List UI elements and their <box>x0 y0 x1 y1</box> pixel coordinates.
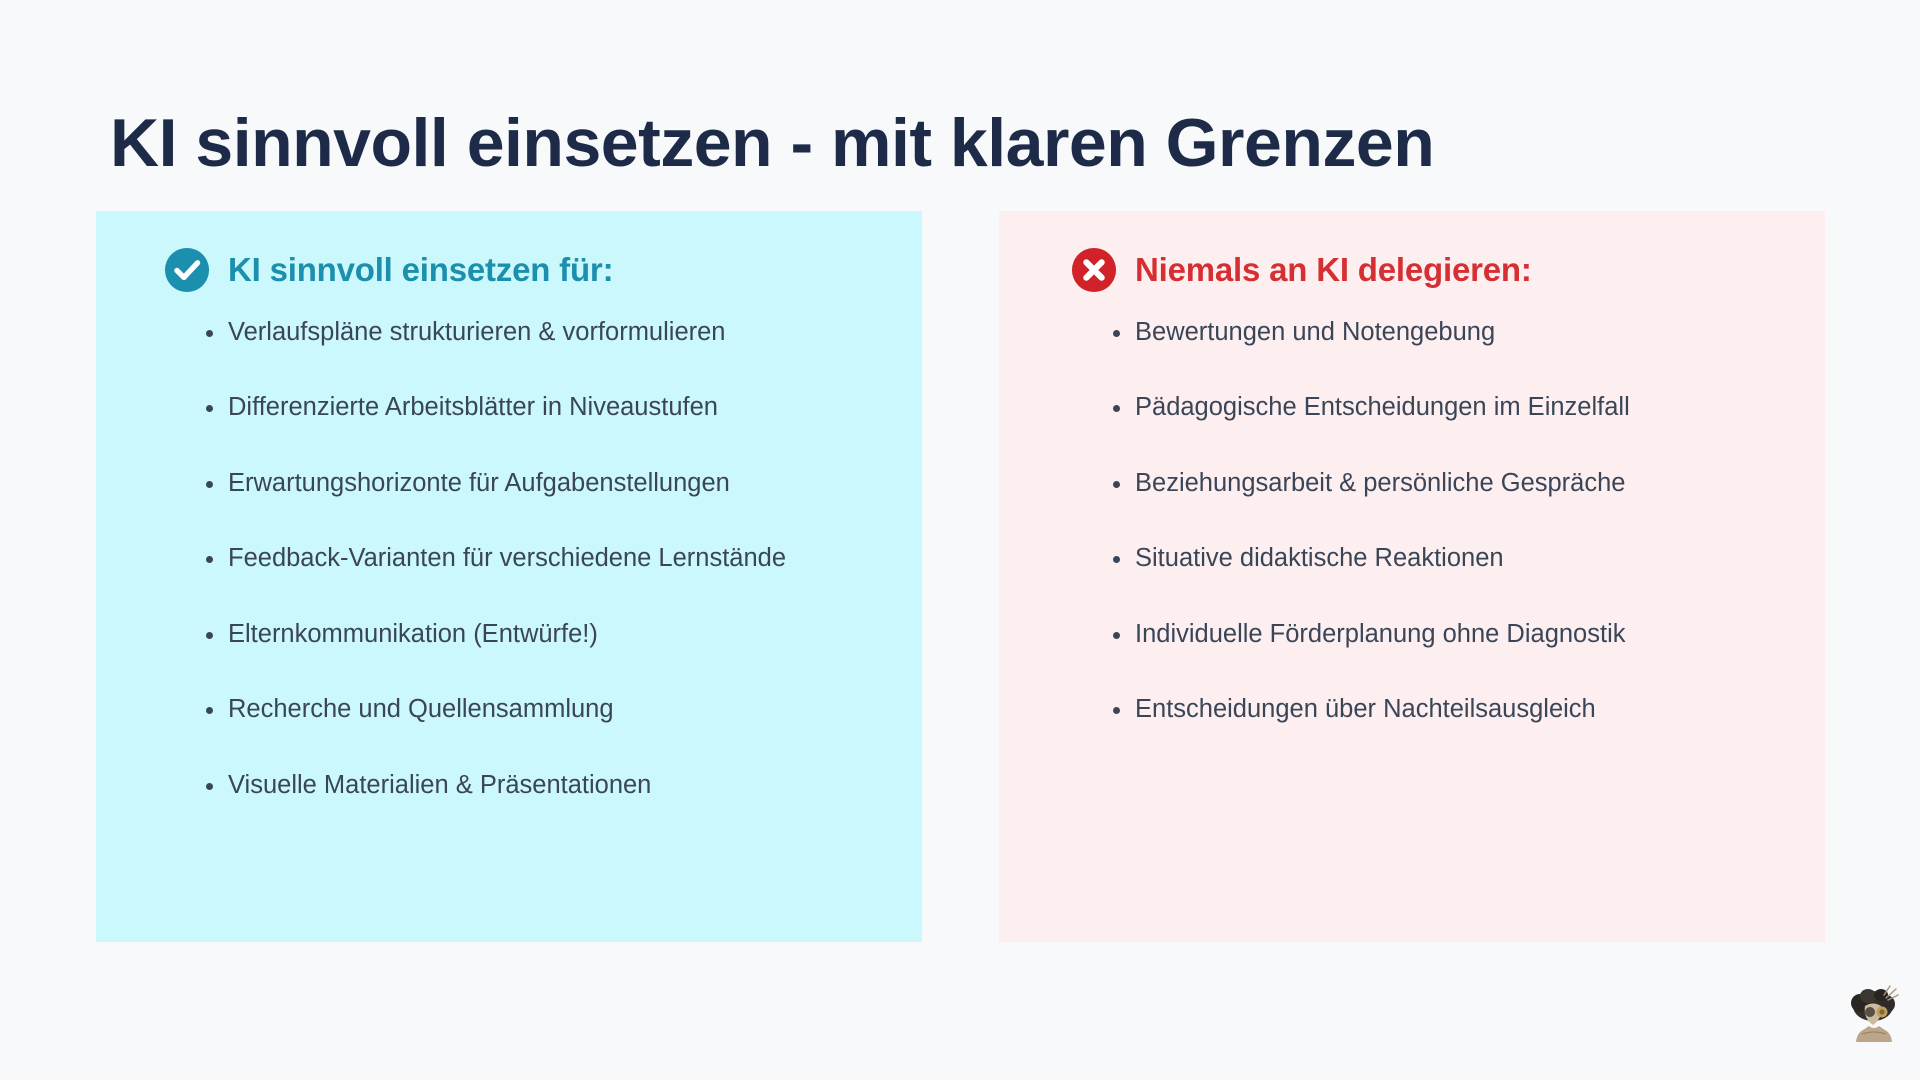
x-circle-icon <box>1071 247 1117 293</box>
card-sinnvoll-header: KI sinnvoll einsetzen für: <box>164 247 878 293</box>
list-item: Bewertungen und Notengebung <box>1105 315 1781 349</box>
list-item: Recherche und Quellensammlung <box>198 692 878 726</box>
list-item: Feedback-Varianten für verschiedene Lern… <box>198 541 878 575</box>
card-sinnvoll: KI sinnvoll einsetzen für: Verlaufspläne… <box>96 211 922 942</box>
card-sinnvoll-heading: KI sinnvoll einsetzen für: <box>228 251 613 289</box>
list-item: Elternkommunikation (Entwürfe!) <box>198 617 878 651</box>
page-title: KI sinnvoll einsetzen - mit klaren Grenz… <box>110 104 1434 182</box>
card-niemals: Niemals an KI delegieren: Bewertungen un… <box>999 211 1825 942</box>
list-item: Pädagogische Entscheidungen im Einzelfal… <box>1105 390 1781 424</box>
card-niemals-header: Niemals an KI delegieren: <box>1071 247 1781 293</box>
card-sinnvoll-list: Verlaufspläne strukturieren & vorformuli… <box>198 315 878 802</box>
list-item: Erwartungshorizonte für Aufgabenstellung… <box>198 466 878 500</box>
list-item: Visuelle Materialien & Präsentationen <box>198 768 878 802</box>
list-item: Verlaufspläne strukturieren & vorformuli… <box>198 315 878 349</box>
card-niemals-list: Bewertungen und Notengebung Pädagogische… <box>1105 315 1781 727</box>
list-item: Differenzierte Arbeitsblätter in Niveaus… <box>198 390 878 424</box>
list-item: Entscheidungen über Nachteilsausgleich <box>1105 692 1781 726</box>
check-circle-icon <box>164 247 210 293</box>
list-item: Individuelle Förderplanung ohne Diagnost… <box>1105 617 1781 651</box>
slide: KI sinnvoll einsetzen - mit klaren Grenz… <box>0 0 1920 1080</box>
list-item: Situative didaktische Reaktionen <box>1105 541 1781 575</box>
author-avatar <box>1838 976 1910 1048</box>
list-item: Beziehungsarbeit & persönliche Gespräche <box>1105 466 1781 500</box>
card-niemals-heading: Niemals an KI delegieren: <box>1135 251 1532 289</box>
